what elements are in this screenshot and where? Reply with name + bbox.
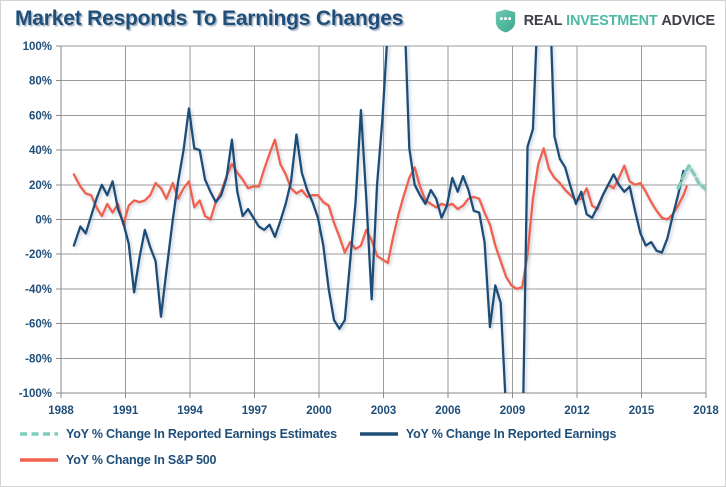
y-tick-label: 40% <box>29 145 52 157</box>
x-tick-label: 2018 <box>693 405 719 417</box>
legend-swatch-estimates-icon <box>19 429 59 439</box>
chart-container: Market Responds To Earnings Changes <box>0 0 726 487</box>
plot-area: 100%80%60%40%20%0%-20%-40%-60%-80%-100% … <box>1 37 726 421</box>
legend-swatch-sp500-icon <box>19 455 59 465</box>
brand-word-advice: ADVICE <box>661 13 715 29</box>
x-tick-label: 2015 <box>629 405 655 417</box>
x-axis-labels: 1988199119941997200020032006200920122015… <box>48 405 719 417</box>
x-axis-tick-marks <box>61 393 706 398</box>
legend-label-estimates: YoY % Change In Reported Earnings Estima… <box>66 427 337 441</box>
line-chart-svg: 100%80%60%40%20%0%-20%-40%-60%-80%-100% … <box>1 37 726 421</box>
data-series-group <box>74 37 717 421</box>
legend-row-bottom: YoY % Change In S&P 500 <box>19 453 216 467</box>
legend-label-earnings: YoY % Change In Reported Earnings <box>406 427 616 441</box>
x-tick-label: 1994 <box>177 405 203 417</box>
x-tick-label: 1997 <box>242 405 268 417</box>
brand-word-real: REAL <box>524 13 563 29</box>
x-tick-label: 1991 <box>113 405 139 417</box>
y-tick-label: -60% <box>25 319 52 331</box>
y-tick-label: -40% <box>25 284 52 296</box>
brand-word-investment: INVESTMENT <box>566 13 657 29</box>
page-title: Market Responds To Earnings Changes <box>15 7 403 31</box>
y-axis-labels: 100%80%60%40%20%0%-20%-40%-60%-80%-100% <box>19 41 52 400</box>
gridlines <box>56 46 706 393</box>
y-tick-label: 80% <box>29 76 52 88</box>
x-tick-label: 2012 <box>564 405 590 417</box>
series-line-earnings <box>74 37 684 421</box>
brand-logo: REAL INVESTMENT ADVICE <box>495 9 715 33</box>
x-tick-label: 2000 <box>306 405 332 417</box>
y-tick-label: -100% <box>19 388 52 400</box>
legend-label-sp500: YoY % Change In S&P 500 <box>66 453 216 467</box>
legend-row-top: YoY % Change In Reported Earnings Estima… <box>19 427 616 441</box>
y-tick-label: -80% <box>25 353 52 365</box>
x-tick-label: 2009 <box>500 405 526 417</box>
legend-swatch-earnings-icon <box>359 429 399 439</box>
x-tick-label: 1988 <box>48 405 74 417</box>
brand-wordmark: REAL INVESTMENT ADVICE <box>524 13 715 29</box>
legend-item-earnings[interactable]: YoY % Change In Reported Earnings <box>359 427 616 441</box>
chart-header: Market Responds To Earnings Changes <box>1 1 726 37</box>
x-tick-label: 2003 <box>371 405 397 417</box>
legend-item-sp500[interactable]: YoY % Change In S&P 500 <box>19 453 216 467</box>
y-tick-label: 20% <box>29 180 52 192</box>
shield-dots-icon-svg <box>495 9 516 33</box>
y-tick-label: 100% <box>23 41 52 53</box>
legend-item-estimates[interactable]: YoY % Change In Reported Earnings Estima… <box>19 427 337 441</box>
y-tick-label: 60% <box>29 110 52 122</box>
shield-dots-icon <box>495 9 516 33</box>
y-tick-label: -20% <box>25 249 52 261</box>
y-tick-label: 0% <box>35 215 52 227</box>
x-tick-label: 2006 <box>435 405 461 417</box>
chart-legend: YoY % Change In Reported Earnings Estima… <box>1 421 726 485</box>
